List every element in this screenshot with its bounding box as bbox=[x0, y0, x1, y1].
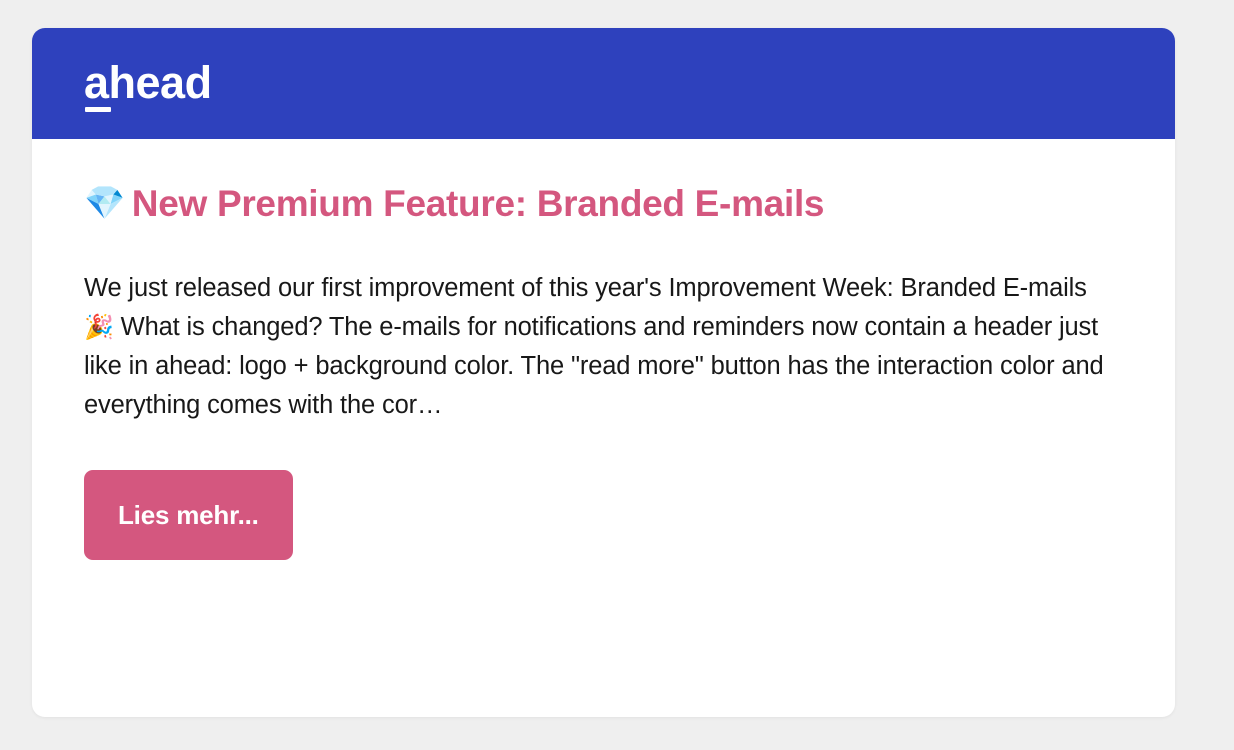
article-title-text: New Premium Feature: Branded E-mails bbox=[132, 183, 824, 224]
logo-underline-accent bbox=[85, 107, 111, 112]
gem-stone-emoji: 💎 bbox=[84, 184, 125, 221]
ahead-wordmark-icon[interactable]: ahead bbox=[84, 60, 212, 107]
read-more-button[interactable]: Lies mehr... bbox=[84, 470, 293, 560]
article-body-part-1: We just released our first improvement o… bbox=[84, 274, 1087, 302]
logo-text: ahead bbox=[84, 57, 212, 108]
article-title: 💎New Premium Feature: Branded E-mails bbox=[84, 183, 1094, 226]
article-body-part-2: What is changed? The e-mails for notific… bbox=[84, 313, 1104, 419]
article-body: We just released our first improvement o… bbox=[84, 269, 1123, 425]
notification-card: ahead 💎New Premium Feature: Branded E-ma… bbox=[32, 28, 1175, 717]
card-body: 💎New Premium Feature: Branded E-mails We… bbox=[32, 139, 1175, 560]
page-root: ahead 💎New Premium Feature: Branded E-ma… bbox=[0, 0, 1234, 750]
party-popper-emoji: 🎉 bbox=[84, 314, 114, 341]
card-header: ahead bbox=[32, 28, 1175, 139]
